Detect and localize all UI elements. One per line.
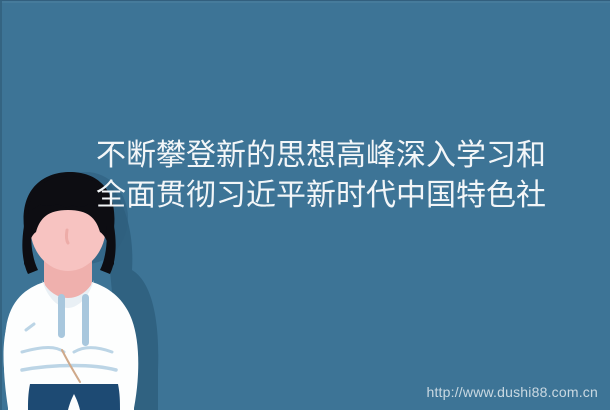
nose <box>66 230 68 243</box>
headline-line-2: 全面贯彻习近平新时代中国特色社 <box>96 176 596 216</box>
headline-line-1: 不断攀登新的思想高峰深入学习和 <box>96 136 596 176</box>
top-edge-line <box>0 0 610 1</box>
drawstring-right <box>82 294 89 346</box>
article-cover-banner: 不断攀登新的思想高峰深入学习和 全面贯彻习近平新时代中国特色社 http://w… <box>0 0 610 410</box>
drawstring-left <box>58 294 65 338</box>
page-title: 不断攀登新的思想高峰深入学习和 全面贯彻习近平新时代中国特色社 <box>96 136 596 216</box>
top-edge-highlight <box>0 0 610 3</box>
watermark-url: http://www.dushi88.com.cn <box>426 384 598 400</box>
